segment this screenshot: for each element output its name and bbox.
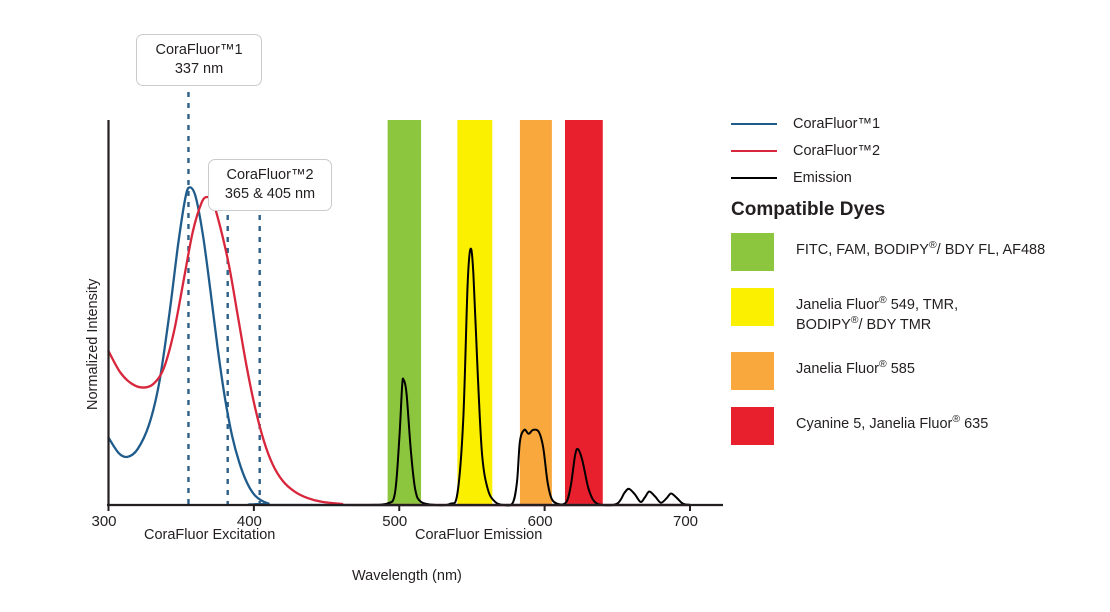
dye-item-3: Cyanine 5, Janelia Fluor® 635 [731,407,1101,445]
excitation-marker-lines [188,92,259,505]
legend-item-1: CoraFluor™2 [731,137,1101,164]
callout-two-value: 365 & 405 nm [219,185,321,204]
x-tick-label-700: 700 [673,513,698,530]
dye-item-1: Janelia Fluor® 549, TMR,BODIPY®/ BDY TMR [731,288,1101,335]
green-band [388,120,421,505]
legend-swatch-line-2 [731,177,777,179]
dye-label-2: Janelia Fluor® 585 [796,352,915,380]
dye-item-0: FITC, FAM, BODIPY®/ BDY FL, AF488 [731,233,1101,271]
x-tick-label-500: 500 [382,513,407,530]
dye-label-0: FITC, FAM, BODIPY®/ BDY FL, AF488 [796,233,1045,261]
callout-one-title: CoraFluor™1 [147,41,251,60]
dye-item-2: Janelia Fluor® 585 [731,352,1101,390]
dye-label-3: Cyanine 5, Janelia Fluor® 635 [796,407,988,435]
series-legend: CoraFluor™1CoraFluor™2Emission [731,110,1101,191]
x-axis-title: Wavelength (nm) [352,568,462,584]
legend-swatch-line-0 [731,123,777,125]
legend-item-2: Emission [731,164,1101,191]
callout-corafluor-1: CoraFluor™1 337 nm [136,34,262,86]
compatible-dyes-list: FITC, FAM, BODIPY®/ BDY FL, AF488Janelia… [731,233,1101,462]
legend-swatch-line-1 [731,150,777,152]
dye-label-1: Janelia Fluor® 549, TMR,BODIPY®/ BDY TMR [796,288,958,335]
legend-label-2: Emission [793,170,852,186]
x-tick-label-600: 600 [528,513,553,530]
dye-color-swatch-3 [731,407,774,445]
red-band [565,120,603,505]
orange-band [520,120,552,505]
compatible-dyes-title: Compatible Dyes [731,199,885,221]
y-axis-title: Normalized Intensity [85,279,101,410]
callout-corafluor-2: CoraFluor™2 365 & 405 nm [208,159,332,211]
legend-item-0: CoraFluor™1 [731,110,1101,137]
callout-two-title: CoraFluor™2 [219,166,321,185]
legend-label-1: CoraFluor™2 [793,143,880,159]
x-tick-label-400: 400 [237,513,262,530]
callout-one-value: 337 nm [147,60,251,79]
dye-color-swatch-1 [731,288,774,326]
emission-group-label: CoraFluor Emission [415,527,542,543]
x-tick-label-300: 300 [92,513,117,530]
dye-color-swatch-2 [731,352,774,390]
dye-band-group [388,120,603,505]
dye-color-swatch-0 [731,233,774,271]
legend-label-0: CoraFluor™1 [793,116,880,132]
